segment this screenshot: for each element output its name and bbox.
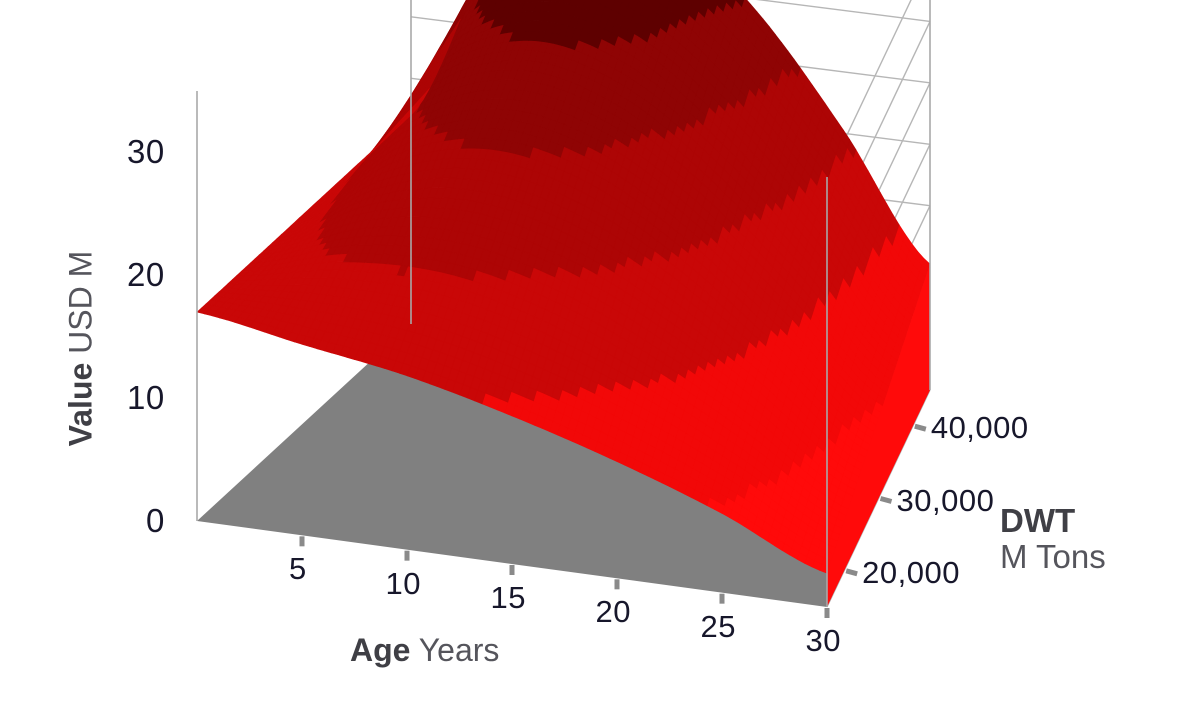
dwt-tick-mark [881,499,892,502]
age-tick-label: 15 [491,580,526,616]
value-tick-label: 10 [127,379,165,417]
age-tick-label: 5 [289,551,307,587]
dwt-tick-mark [915,426,926,429]
surface-chart: 0 10 20 30 5 10 15 20 25 30 20,000 30,00… [0,0,1186,711]
dwt-tick-label: 30,000 [897,483,995,519]
age-tick-label: 25 [701,609,736,645]
age-tick-label: 20 [596,594,631,630]
dwt-axis-title-strong: DWT [1000,502,1075,539]
age-axis-title-strong: Age [350,632,410,668]
age-tick-label: 10 [386,566,421,602]
value-axis-title: Value USD M [63,214,100,484]
age-axis-title: Age Years [350,632,499,669]
age-axis-title-light: Years [419,632,500,668]
value-tick-label: 20 [127,256,165,294]
age-tick-label: 30 [806,623,841,659]
surface-plot-canvas [0,0,1186,711]
dwt-tick-label: 20,000 [862,555,960,591]
dwt-tick-mark [846,571,857,574]
value-axis-title-light: USD M [63,251,99,354]
dwt-tick-label: 40,000 [931,410,1029,446]
value-axis-title-strong: Value [63,363,99,447]
value-tick-label: 30 [127,133,165,171]
dwt-axis-title: DWTM Tons [1000,503,1106,574]
value-tick-label: 0 [146,502,165,540]
dwt-axis-title-light: M Tons [1000,539,1106,575]
